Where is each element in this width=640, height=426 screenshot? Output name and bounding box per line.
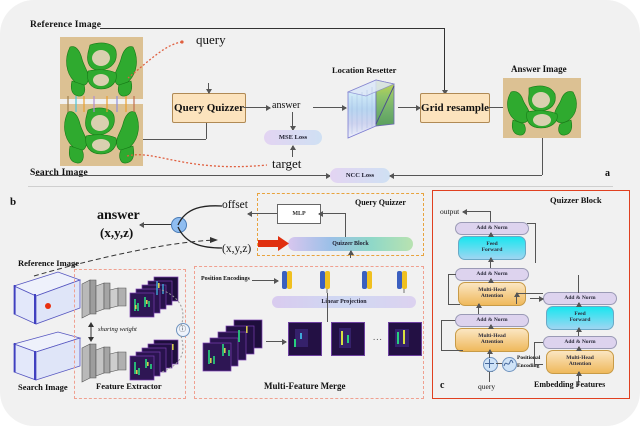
quizzerblock-to-mlp-arrow <box>319 213 345 214</box>
panel-a-ncc-loss-pill: NCC Loss <box>330 168 390 183</box>
panel-b-letter: b <box>10 196 16 208</box>
figure-root: Reference Image Search Image <box>0 0 640 426</box>
ncc-left-arrow <box>290 175 330 176</box>
merge-to-patches-arrow <box>266 341 286 342</box>
block-label-line2: Forward <box>482 248 503 254</box>
cross-attention-v <box>516 293 517 304</box>
concat-curve-top <box>160 288 190 330</box>
offset-curve-connector <box>176 203 224 227</box>
panel-a-query-quizzer-box[interactable]: Query Quizzer <box>172 93 246 123</box>
panel-divider <box>28 186 613 187</box>
residual-rail-2-top <box>441 320 455 321</box>
panel-b-search-image-label: Search Image <box>18 382 68 392</box>
panel-b-answer-text: answer <box>97 208 140 224</box>
panel-b-query-quizzer-title: Query Quizzer <box>355 198 406 207</box>
block-label: Add & Norm <box>476 226 507 232</box>
pelvis-render-answer-icon <box>503 78 581 138</box>
answer-to-mse-arrow <box>292 112 293 130</box>
right-residual-rail <box>534 342 535 364</box>
residual-rail-2-bottom <box>441 350 463 351</box>
position-encodings-arrow <box>252 280 278 281</box>
sharing-weight-arrow <box>86 322 96 342</box>
panel-b-multi-feature-merge-title: Multi-Feature Merge <box>264 381 346 391</box>
addnorm3-up-arrow <box>478 304 479 314</box>
search-bus-h <box>143 139 206 140</box>
block-label-line2: Attention <box>481 294 503 300</box>
plus-circle-icon <box>483 357 496 370</box>
panel-b-query-coords: (x,y,z) <box>222 243 251 255</box>
patch-tile-2 <box>331 322 365 356</box>
block-label-line2: Forward <box>570 318 591 324</box>
mha2-to-addnorm3-arrow <box>490 325 491 329</box>
concat-curve-bottom <box>160 334 190 374</box>
panel-c-letter: c <box>440 380 444 391</box>
panel-b-linear-projection-bar: Linear Projection <box>272 296 416 308</box>
sine-wave-icon <box>502 357 515 370</box>
residual-rail-1-bottom <box>448 304 460 305</box>
patch-tile-1 <box>288 322 322 356</box>
block-label: Add & Norm <box>476 318 507 324</box>
answer-to-resetter-arrow <box>313 107 346 108</box>
cross-attention-h <box>516 293 543 294</box>
panel-a-location-resetter-label: Location Resetter <box>332 65 396 75</box>
right-residual-rail-top <box>534 342 543 343</box>
top-right-rail <box>535 223 536 263</box>
panel-c-positional-encoding-l1: Positional <box>517 355 540 361</box>
panel-b-offset-label: offset <box>222 199 248 211</box>
right-mha-to-addnorm-arrow <box>578 347 579 351</box>
block-label: Add & Norm <box>564 340 595 346</box>
panel-b-reference-image-label: Reference Image <box>18 258 79 268</box>
panel-a-answer-image-label: Answer Image <box>511 64 567 74</box>
panel-a-target-label: target <box>272 156 301 172</box>
position-encoding-tokens <box>282 271 412 293</box>
panel-a-search-image-label: Search Image <box>30 168 88 178</box>
location-resetter-cube-icon <box>346 78 398 142</box>
panel-b-position-encodings-label: Position Encodings <box>201 276 250 282</box>
correspondence-strands <box>60 96 144 112</box>
panel-b-sharing-weight-label: sharing weight <box>98 326 137 333</box>
ncc-right-arrow <box>390 175 542 176</box>
merge-to-answer-arrow <box>140 224 171 225</box>
panel-a-letter: a <box>605 168 610 179</box>
target-dotted-connector <box>125 143 270 169</box>
panel-a-mse-loss-pill: MSE Loss <box>264 130 322 145</box>
panel-b-quizzer-block-pill[interactable]: Quizzer Block <box>288 237 413 251</box>
merged-feature-stack <box>202 318 264 372</box>
sum-to-mha2-arrow <box>489 350 490 358</box>
ncc-left-bus <box>35 175 330 176</box>
right-top-stem <box>578 275 579 293</box>
patch-tile-3 <box>388 322 422 356</box>
panel-b-mlp-box[interactable]: MLP <box>277 204 321 224</box>
panel-a-grid-resample-box[interactable]: Grid resample <box>420 93 490 123</box>
block-label-line2: Attention <box>481 340 503 346</box>
panel-c-query-label: query <box>478 382 495 391</box>
answerimage-to-ncc-line <box>542 138 543 175</box>
resetter-to-gridresample-arrow <box>398 107 420 108</box>
panel-a-answer-thumbnail <box>503 78 581 138</box>
ref-to-gridresample-arrow <box>444 28 445 94</box>
residual-rail-1 <box>448 274 449 304</box>
panel-a-answer-label: answer <box>272 100 300 111</box>
block-label: Add & Norm <box>476 272 507 278</box>
panel-c-title: Quizzer Block <box>550 195 602 205</box>
panel-c-output-label: output <box>440 207 459 216</box>
block-label: Add & Norm <box>564 296 595 302</box>
quizzerblock-up-line <box>345 213 346 239</box>
query-dotted-connector <box>120 38 195 83</box>
cnn-encoder-top-icon <box>80 276 132 320</box>
ref-top-bus <box>100 28 444 29</box>
mha1-to-addnorm2-arrow <box>490 279 491 283</box>
quizzer-to-answer-arrow <box>244 107 270 108</box>
mlp-to-offset-arrow <box>248 213 277 214</box>
right-ff-to-addnorm-arrow <box>578 303 579 307</box>
addnorm2-up-arrow <box>490 258 491 268</box>
into-quizzer-block-arrow <box>350 251 351 258</box>
panel-a-query-label: query <box>196 32 226 48</box>
residual-rail-2 <box>441 320 442 350</box>
block-label-line2: Attention <box>569 362 591 368</box>
right-addnorm-in-arrow <box>530 298 543 299</box>
output-elbow <box>463 211 490 212</box>
red-flow-arrow-icon <box>258 235 290 252</box>
cnn-encoder-bottom-icon <box>80 340 132 384</box>
top-right-rail-join <box>527 223 535 224</box>
panel-c-embedding-features-label: Embedding Features <box>534 380 605 389</box>
target-to-mse-arrow <box>292 146 293 157</box>
pe-to-patch-link-2 <box>327 293 328 322</box>
panel-a-reference-image-label: Reference Image <box>30 20 101 30</box>
residual-rail-1-top <box>448 274 456 275</box>
query-into-quizzer-arrow <box>208 83 209 93</box>
patch-ellipsis: ... <box>373 332 383 342</box>
right-residual-rail-bottom <box>534 364 543 365</box>
right-addnorm2-up <box>578 328 579 336</box>
ff-to-addnorm-1-arrow <box>490 233 491 237</box>
